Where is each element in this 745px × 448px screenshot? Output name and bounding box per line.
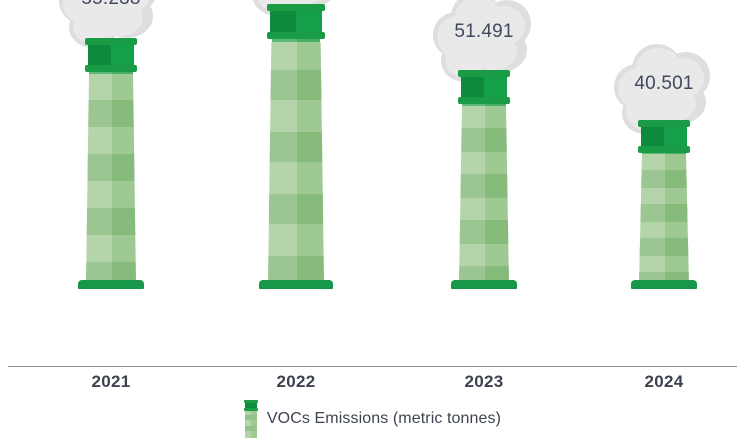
stack-column-2023 <box>459 106 509 286</box>
x-tick-label-2022: 2022 <box>235 372 357 392</box>
stack-base-2024 <box>631 280 697 289</box>
bar-2021[interactable]: 55.238 <box>52 46 170 286</box>
legend-marker-column <box>245 409 257 438</box>
stack-base-2022 <box>259 280 333 289</box>
cap-rim-bottom <box>638 146 690 153</box>
cap-body <box>461 77 508 97</box>
x-tick-label-2023: 2023 <box>425 372 543 392</box>
voc-emissions-chart: 55.238 <box>0 0 745 448</box>
legend-marker-rim-bottom <box>244 408 258 411</box>
smokestack-icon <box>244 400 258 438</box>
cap-rim-top <box>458 70 510 77</box>
cap-body <box>270 11 322 32</box>
stack-column-2021 <box>86 74 136 286</box>
cap-rim-bottom <box>85 65 137 72</box>
legend: VOCs Emissions (metric tonnes) <box>0 400 745 438</box>
legend-label: VOCs Emissions (metric tonnes) <box>267 410 501 428</box>
cap-rim-bottom <box>267 32 325 39</box>
column-bands <box>639 154 689 286</box>
stack-column-2022 <box>268 42 324 286</box>
value-label-2023: 51.491 <box>425 21 543 43</box>
plot-area: 55.238 <box>0 0 745 368</box>
x-tick-label-2021: 2021 <box>52 372 170 392</box>
column-bands <box>459 106 509 286</box>
stack-column-2024 <box>639 154 689 286</box>
x-tick-label-2024: 2024 <box>608 372 720 392</box>
column-bands <box>268 42 324 286</box>
cap-body <box>641 127 688 146</box>
cap-rim-top <box>638 120 690 127</box>
stack-base-2021 <box>78 280 144 289</box>
cap-body <box>88 45 135 65</box>
column-bands <box>86 74 136 286</box>
stack-base-2023 <box>451 280 517 289</box>
cap-rim-bottom <box>458 97 510 104</box>
cap-rim-top <box>267 4 325 11</box>
x-axis-line <box>8 366 737 367</box>
value-label-2024: 40.501 <box>606 73 722 95</box>
cap-rim-top <box>85 38 137 45</box>
bar-2023[interactable]: 51.491 <box>425 78 543 286</box>
bar-2024[interactable]: 40.501 <box>608 128 720 286</box>
value-label-2021: 55.238 <box>51 0 171 10</box>
bar-2022[interactable]: 60.064 <box>235 14 357 286</box>
